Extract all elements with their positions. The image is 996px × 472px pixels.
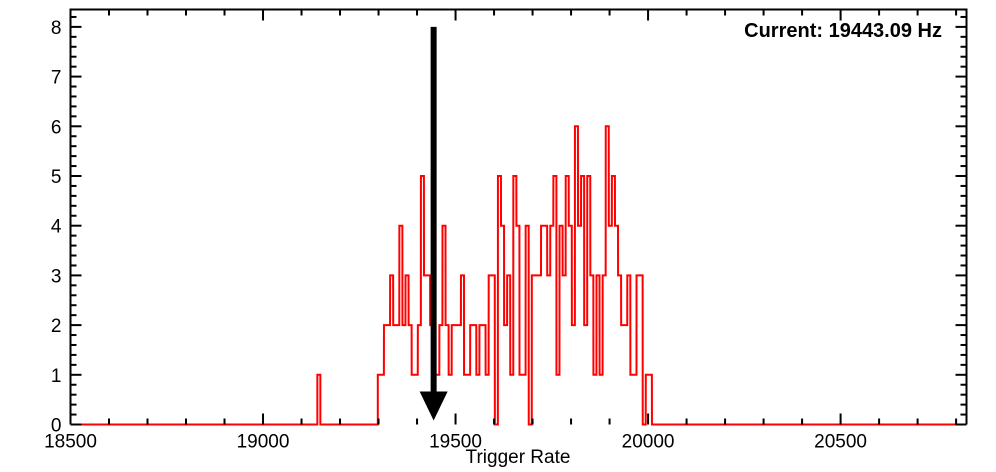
x-tick-label: 20000	[622, 432, 675, 453]
x-axis-title: Trigger Rate	[466, 447, 571, 468]
y-tick-label: 8	[51, 18, 62, 39]
y-tick-label: 0	[51, 416, 62, 437]
trigger-rate-histogram: 1850019000195002000020500012345678 Trigg…	[0, 0, 996, 472]
y-tick-label: 6	[51, 117, 62, 138]
current-rate-readout: Current: 19443.09 Hz	[744, 20, 942, 42]
y-tick-label: 2	[51, 316, 62, 337]
x-tick-label: 20500	[814, 432, 867, 453]
x-tick-label: 19000	[237, 432, 290, 453]
root-canvas: 1850019000195002000020500012345678 Trigg…	[0, 0, 996, 472]
y-tick-label: 1	[51, 366, 62, 387]
y-tick-label: 4	[51, 217, 62, 238]
y-tick-label: 7	[51, 68, 62, 89]
y-tick-label: 3	[51, 266, 62, 287]
y-tick-label: 5	[51, 167, 62, 188]
